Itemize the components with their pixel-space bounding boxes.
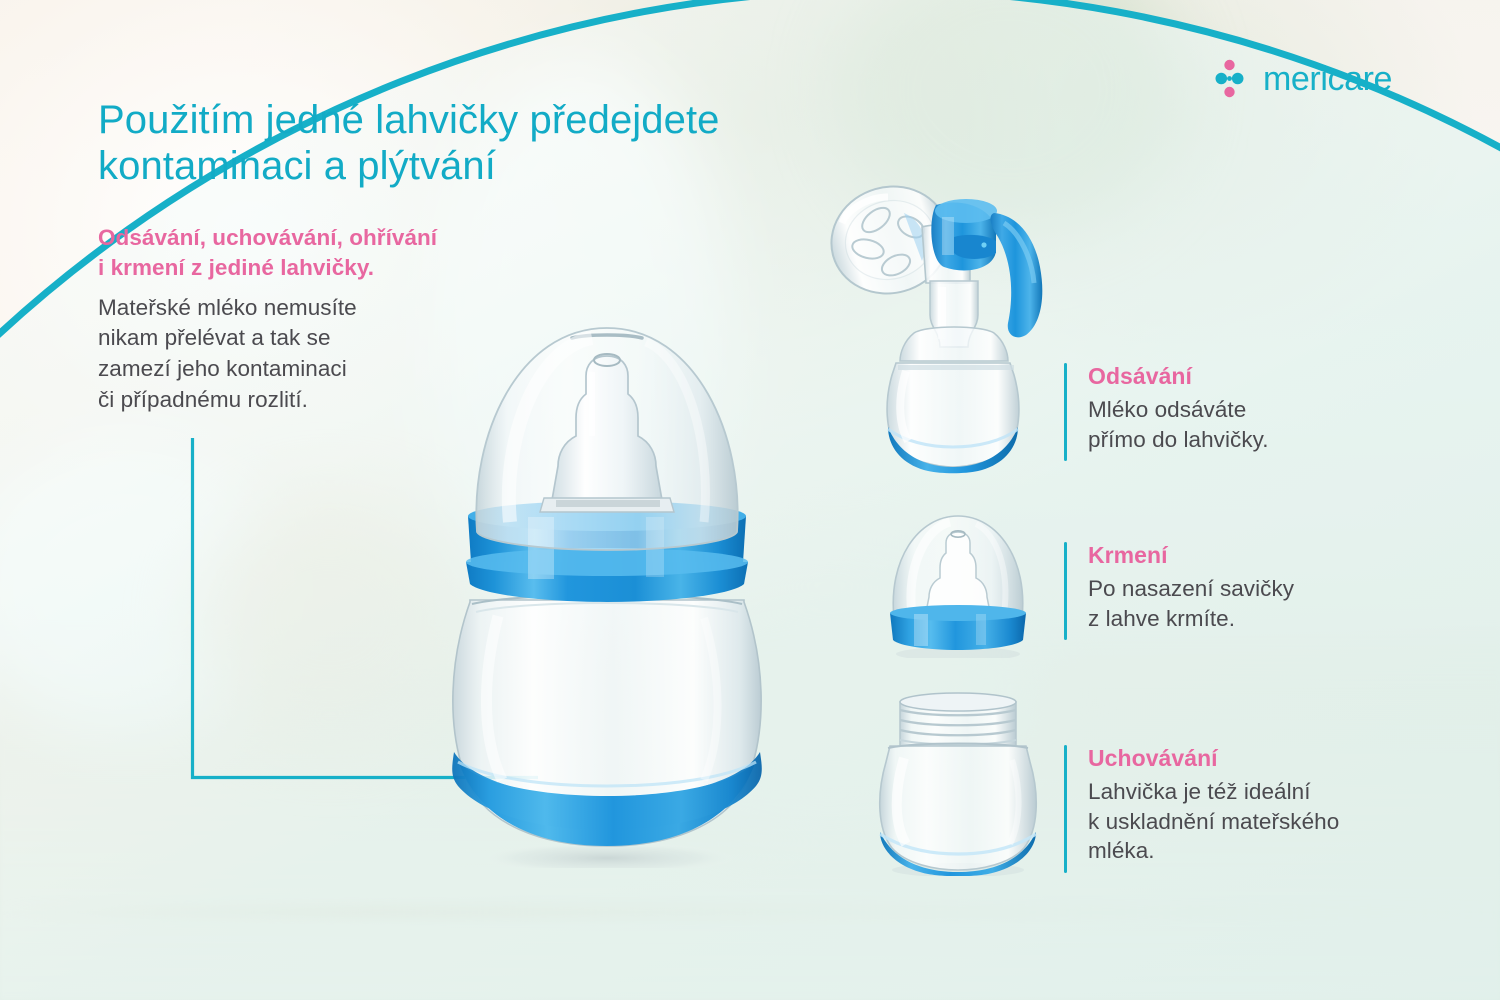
feature-description: Lahvička je též ideální k uskladnění mat… bbox=[1088, 777, 1339, 867]
feature-desc-line-1: Mléko odsáváte bbox=[1088, 395, 1269, 425]
bottle-teat-cap-icon bbox=[872, 506, 1044, 658]
feature-description: Po nasazení savičky z lahve krmíte. bbox=[1088, 574, 1294, 634]
feature-text: Krmení Po nasazení savičky z lahve krmít… bbox=[1088, 542, 1294, 633]
brand-logo[interactable]: mericare bbox=[1209, 58, 1392, 99]
feature-accent-bar bbox=[1064, 542, 1067, 640]
background-table-edge bbox=[0, 905, 1500, 919]
page-title-line-2: kontaminaci a plýtvání bbox=[98, 143, 898, 189]
storage-jar-icon bbox=[868, 690, 1048, 876]
main-product-bottle bbox=[432, 286, 782, 868]
feature-text: Odsávání Mléko odsáváte přímo do lahvičk… bbox=[1088, 363, 1269, 454]
feature-image-storage-jar bbox=[868, 690, 1048, 876]
feature-title: Odsávání bbox=[1088, 363, 1269, 391]
feature-text: Uchovávání Lahvička je též ideální k usk… bbox=[1088, 745, 1339, 866]
feature-desc-line-3: mléka. bbox=[1088, 836, 1339, 866]
feature-item-odsavani: Odsávání Mléko odsáváte přímo do lahvičk… bbox=[1064, 363, 1269, 461]
brand-logo-text: mericare bbox=[1263, 62, 1392, 96]
infographic-canvas: Použitím jedné lahvičky předejdete konta… bbox=[0, 0, 1500, 1000]
feature-accent-bar bbox=[1064, 363, 1067, 461]
feature-desc-line-2: k uskladnění mateřského bbox=[1088, 807, 1339, 837]
feature-accent-bar bbox=[1064, 745, 1067, 873]
feature-desc-line-1: Po nasazení savičky bbox=[1088, 574, 1294, 604]
baby-bottle-with-cap-icon bbox=[432, 286, 782, 868]
page-title-line-1: Použitím jedné lahvičky předejdete bbox=[98, 97, 898, 143]
subheading-line-1: Odsávání, uchovávání, ohřívání bbox=[98, 223, 898, 253]
page-title: Použitím jedné lahvičky předejdete konta… bbox=[98, 97, 898, 190]
feature-desc-line-2: přímo do lahvičky. bbox=[1088, 425, 1269, 455]
subheading: Odsávání, uchovávání, ohřívání i krmení … bbox=[98, 223, 898, 283]
feature-image-breast-pump bbox=[818, 175, 1068, 475]
feature-title: Uchovávání bbox=[1088, 745, 1339, 773]
feature-description: Mléko odsáváte přímo do lahvičky. bbox=[1088, 395, 1269, 455]
feature-desc-line-2: z lahve krmíte. bbox=[1088, 604, 1294, 634]
feature-desc-line-1: Lahvička je též ideální bbox=[1088, 777, 1339, 807]
feature-title: Krmení bbox=[1088, 542, 1294, 570]
feature-item-krmeni: Krmení Po nasazení savičky z lahve krmít… bbox=[1064, 542, 1294, 640]
feature-image-bottle-teat bbox=[872, 506, 1044, 658]
background-blur-shape bbox=[200, 500, 460, 740]
divide-mark-icon bbox=[1209, 58, 1250, 99]
feature-item-uchovavani: Uchovávání Lahvička je též ideální k usk… bbox=[1064, 745, 1339, 873]
breast-pump-icon bbox=[818, 175, 1068, 475]
subheading-line-2: i krmení z jediné lahvičky. bbox=[98, 253, 898, 283]
